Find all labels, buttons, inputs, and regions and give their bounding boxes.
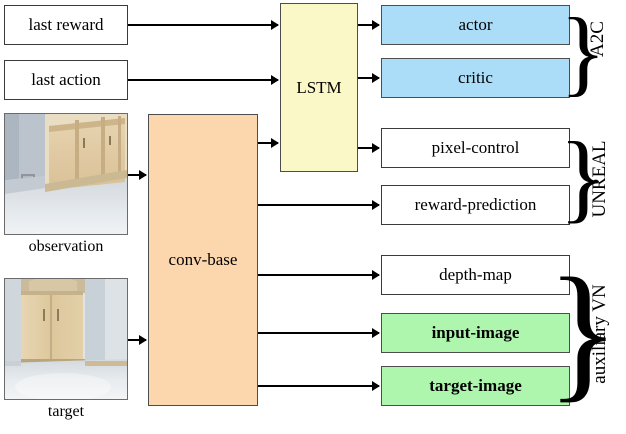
output-box-target-image: target-image	[381, 366, 570, 406]
input-box-last-action: last action	[4, 60, 128, 100]
input-label-last-reward: last reward	[28, 15, 103, 35]
input-label-last-action: last action	[31, 70, 100, 90]
observation-caption: observation	[4, 238, 128, 256]
target-image-content	[5, 279, 127, 399]
arrow-conv-base-to-depth-map	[258, 274, 379, 276]
group-label-a2c: A2C	[587, 16, 609, 62]
arrow-lstm-to-actor	[358, 24, 379, 26]
output-box-reward-prediction: reward-prediction	[381, 185, 570, 225]
arrow-lstm-to-pixel-control	[358, 147, 379, 149]
module-conv-base: conv-base	[148, 114, 258, 406]
output-label-depth-map: depth-map	[439, 265, 512, 285]
module-label-lstm: LSTM	[296, 78, 341, 98]
architecture-diagram: last reward last action	[0, 0, 626, 434]
output-box-pixel-control: pixel-control	[381, 128, 570, 168]
arrow-observation-to-conv-base	[128, 174, 146, 176]
output-label-target-image: target-image	[429, 376, 522, 396]
output-label-actor: actor	[459, 15, 493, 35]
arrow-last-action-to-lstm	[128, 79, 278, 81]
group-label-unreal: UNREAL	[589, 139, 611, 219]
arrow-conv-base-to-reward-prediction	[258, 204, 379, 206]
arrow-conv-base-to-target-image	[258, 385, 379, 387]
target-image-thumbnail	[4, 278, 128, 400]
module-lstm: LSTM	[280, 3, 358, 172]
output-box-input-image: input-image	[381, 313, 570, 353]
output-label-input-image: input-image	[432, 323, 520, 343]
target-caption: target	[4, 403, 128, 421]
output-box-depth-map: depth-map	[381, 255, 570, 295]
output-label-reward-prediction: reward-prediction	[415, 195, 537, 215]
observation-image	[4, 113, 128, 235]
group-label-auxiliary-vn: auxiliary VN	[589, 269, 611, 399]
arrow-conv-base-to-lstm	[258, 142, 278, 144]
input-box-last-reward: last reward	[4, 5, 128, 45]
output-label-critic: critic	[458, 68, 493, 88]
arrow-target-to-conv-base	[128, 339, 146, 341]
arrow-lstm-to-critic	[358, 77, 379, 79]
observation-image-content	[5, 114, 127, 234]
module-label-conv-base: conv-base	[169, 250, 238, 270]
arrow-last-reward-to-lstm	[128, 24, 278, 26]
output-label-pixel-control: pixel-control	[432, 138, 520, 158]
output-box-critic: critic	[381, 58, 570, 98]
arrow-conv-base-to-input-image	[258, 332, 379, 334]
output-box-actor: actor	[381, 5, 570, 45]
